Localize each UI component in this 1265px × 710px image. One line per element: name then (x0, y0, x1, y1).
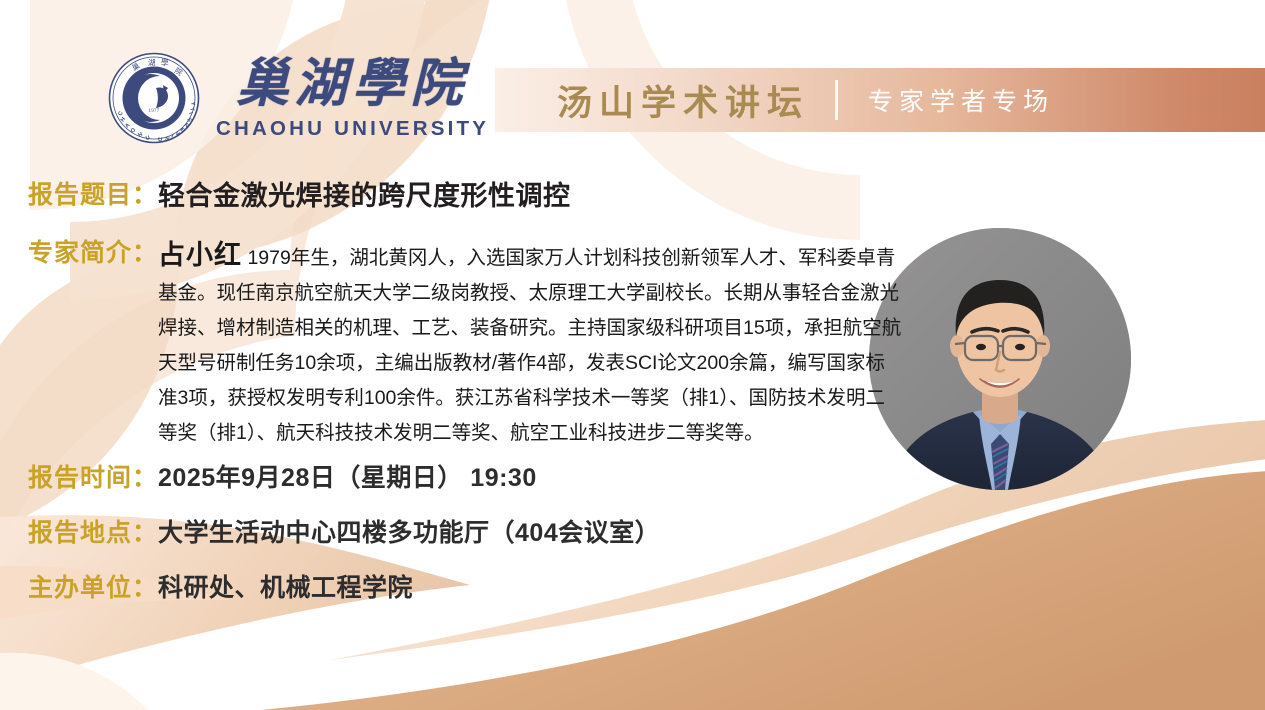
value-host-unit: 科研处、机械工程学院 (158, 573, 413, 603)
poster-content: 报告题目： 轻合金激光焊接的跨尺度形性调控 专家简介： 占小红 1979年生，湖… (0, 0, 1265, 710)
speaker-bio-body: 占小红 1979年生，湖北黄冈人，入选国家万人计划科技创新领军人才、军科委卓青 … (158, 238, 883, 451)
label-report-time: 报告时间： (28, 463, 158, 493)
bio-line: 1979年生，湖北黄冈人，入选国家万人计划科技创新领军人才、军科委卓青 (247, 247, 895, 269)
label-host-unit: 主办单位： (28, 573, 158, 603)
speaker-name: 占小红 (158, 240, 242, 270)
bio-line: 基金。现任南京航空航天大学二级岗教授、太原理工大学副校长。长期从事轻合金激光 (158, 276, 883, 311)
value-report-place: 大学生活动中心四楼多功能厅（404会议室） (158, 518, 660, 548)
bio-line: 天型号研制任务10余项，主编出版教材/著作4部，发表SCI论文200余篇，编写国… (158, 346, 883, 381)
bio-line: 焊接、增材制造相关的机理、工艺、装备研究。主持国家级科研项目15项，承担航空航 (158, 311, 883, 346)
row-report-title: 报告题目： 轻合金激光焊接的跨尺度形性调控 (28, 180, 571, 212)
row-speaker-bio: 专家简介： 占小红 1979年生，湖北黄冈人，入选国家万人计划科技创新领军人才、… (28, 238, 878, 451)
bio-line: 等奖（排1）、航天科技技术发明二等奖、航空工业科技进步二等奖等。 (158, 416, 883, 451)
value-report-title: 轻合金激光焊接的跨尺度形性调控 (158, 180, 571, 212)
label-speaker-bio: 专家简介： (28, 238, 158, 268)
row-host-unit: 主办单位： 科研处、机械工程学院 (28, 573, 413, 603)
label-report-place: 报告地点： (28, 518, 158, 548)
bio-line: 准3项，获授权发明专利100余件。获江苏省科学技术一等奖（排1）、国防技术发明二 (158, 381, 883, 416)
poster-canvas: 1977 巢 湖 學 院 C H A O H U U (0, 0, 1265, 710)
row-report-time: 报告时间： 2025年9月28日（星期日） 19:30 (28, 463, 537, 493)
label-report-title: 报告题目： (28, 180, 158, 210)
value-report-time: 2025年9月28日（星期日） 19:30 (158, 463, 537, 493)
bio-line-first: 占小红 1979年生，湖北黄冈人，入选国家万人计划科技创新领军人才、军科委卓青 (158, 238, 883, 276)
row-report-place: 报告地点： 大学生活动中心四楼多功能厅（404会议室） (28, 518, 660, 548)
